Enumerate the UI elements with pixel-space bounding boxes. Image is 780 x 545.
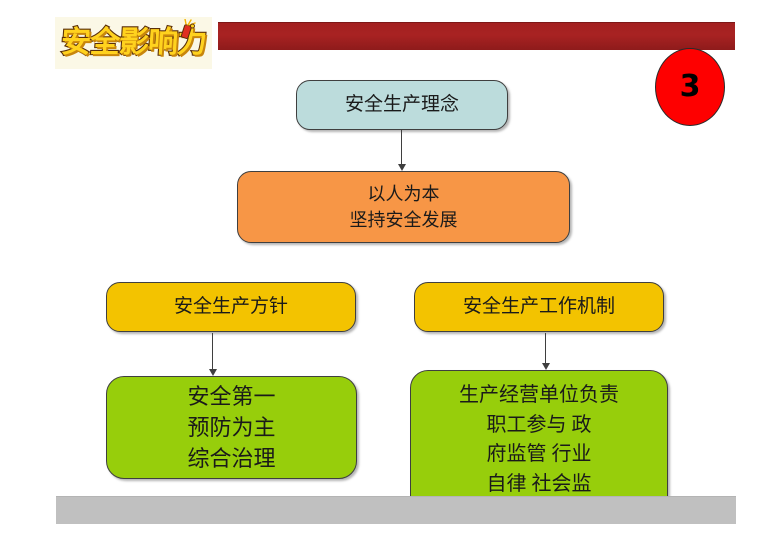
page-number-badge: 3 <box>655 48 725 126</box>
node-safety-concept-label: 安全生产理念 <box>345 93 459 117</box>
slide-canvas: 安全影响力 3 安全生产理念 以人为本 坚持安全发展 安全生产方针 安全第一 预… <box>0 0 780 545</box>
node-branch-title-1-label: 安全生产工作机制 <box>463 295 615 319</box>
arrowhead-down-icon <box>209 369 217 376</box>
node-branch-title-1[interactable]: 安全生产工作机制 <box>414 282 664 332</box>
brand-logo: 安全影响力 <box>55 17 212 69</box>
page-number-text: 3 <box>680 72 701 102</box>
firecracker-icon <box>176 19 196 41</box>
node-branch-title-0[interactable]: 安全生产方针 <box>106 282 356 332</box>
arrowhead-down-icon <box>542 363 550 370</box>
connector-line <box>212 333 213 369</box>
connector-line <box>401 130 402 164</box>
node-core-principle[interactable]: 以人为本 坚持安全发展 <box>237 171 570 243</box>
node-core-principle-label: 以人为本 坚持安全发展 <box>350 181 458 233</box>
footer-accent-bar <box>56 496 736 524</box>
header-accent-bar <box>218 22 735 50</box>
node-branch-title-0-label: 安全生产方针 <box>174 295 288 319</box>
arrowhead-down-icon <box>398 164 406 171</box>
node-branch-detail-0-label: 安全第一 预防为主 综合治理 <box>187 381 275 475</box>
connector-line <box>545 333 546 363</box>
node-safety-concept[interactable]: 安全生产理念 <box>296 80 508 130</box>
node-branch-detail-0[interactable]: 安全第一 预防为主 综合治理 <box>106 376 357 479</box>
